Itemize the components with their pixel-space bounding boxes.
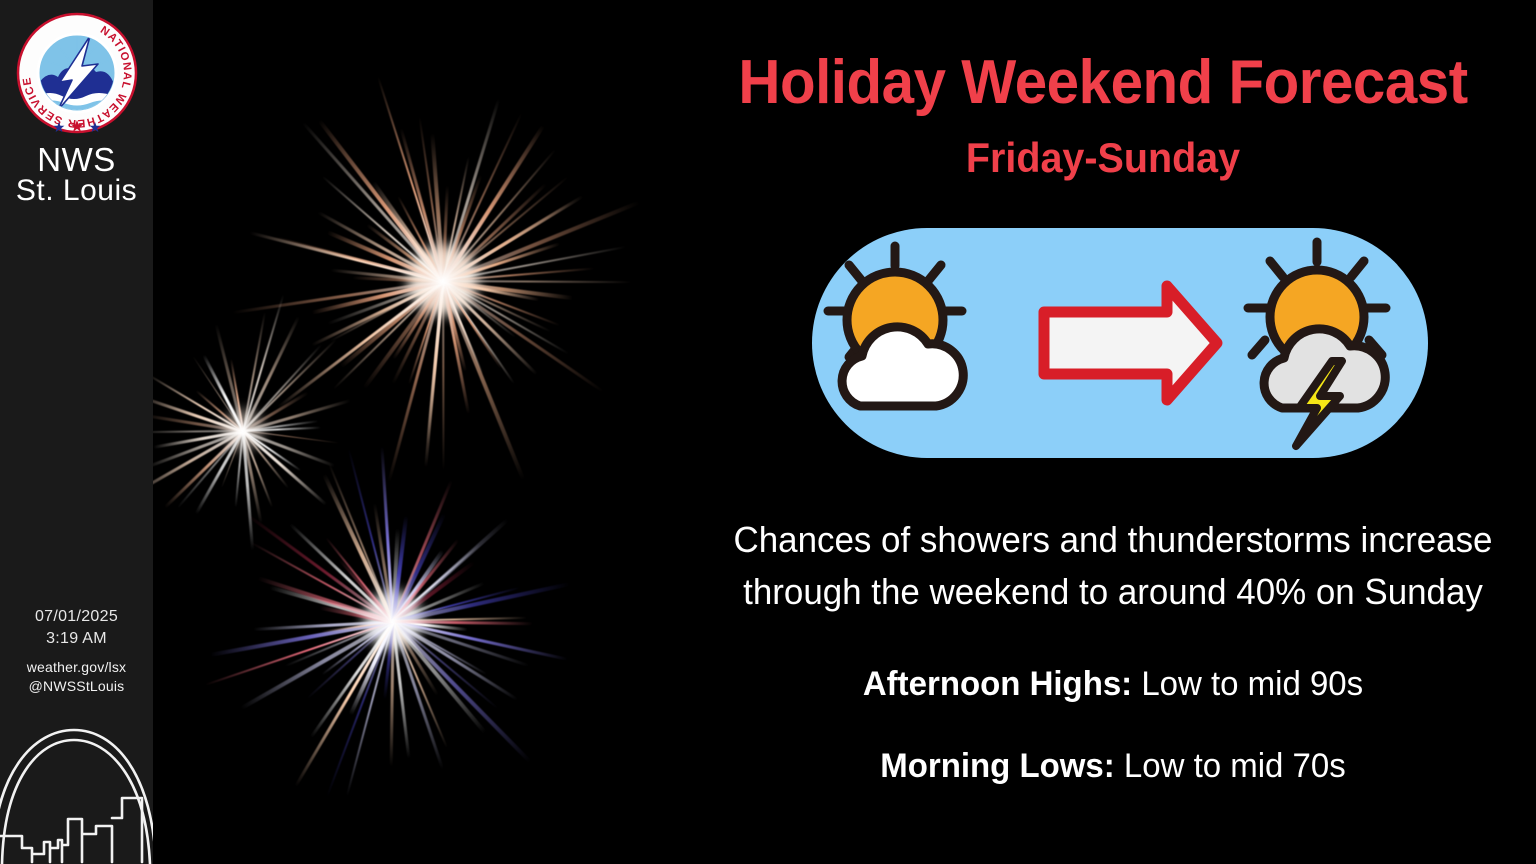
morning-lows-label: Morning Lows: bbox=[880, 747, 1124, 785]
links-block: weather.gov/lsx @NWSStLouis bbox=[0, 658, 153, 696]
fireworks-photo bbox=[153, 0, 720, 864]
sun-behind-thunderstorm-cloud-icon bbox=[1248, 242, 1386, 446]
issue-date: 07/01/2025 bbox=[0, 606, 153, 628]
issue-time: 3:19 AM bbox=[0, 628, 153, 650]
sidebar: NATIONAL WEATHER SERVICE NWS St. Louis 0… bbox=[0, 0, 153, 864]
sun-behind-cloud-icon bbox=[828, 246, 963, 406]
page-title: Holiday Weekend Forecast bbox=[696, 50, 1510, 116]
afternoon-highs-label: Afternoon Highs: bbox=[863, 665, 1141, 703]
website-link[interactable]: weather.gov/lsx bbox=[0, 658, 153, 677]
social-handle-link[interactable]: @NWSStLouis bbox=[0, 677, 153, 696]
forecast-content: Holiday Weekend Forecast Friday-Sunday bbox=[720, 0, 1536, 864]
office-name-line1: NWS bbox=[0, 142, 153, 178]
right-arrow-icon bbox=[1044, 286, 1217, 400]
timestamp-block: 07/01/2025 3:19 AM bbox=[0, 606, 153, 650]
afternoon-highs-row: Afternoon Highs: Low to mid 90s bbox=[693, 664, 1533, 704]
forecast-description: Chances of showers and thunderstorms inc… bbox=[693, 514, 1533, 618]
nws-logo: NATIONAL WEATHER SERVICE bbox=[14, 10, 140, 136]
afternoon-highs-value: Low to mid 90s bbox=[1141, 665, 1363, 703]
morning-lows-value: Low to mid 70s bbox=[1124, 747, 1346, 785]
page-subtitle: Friday-Sunday bbox=[696, 134, 1510, 182]
morning-lows-row: Morning Lows: Low to mid 70s bbox=[693, 746, 1533, 786]
office-name-line2: St. Louis bbox=[0, 174, 153, 208]
gateway-arch-skyline-icon bbox=[0, 714, 153, 864]
firework-ray bbox=[294, 621, 394, 788]
weather-icon-panel bbox=[812, 228, 1428, 458]
